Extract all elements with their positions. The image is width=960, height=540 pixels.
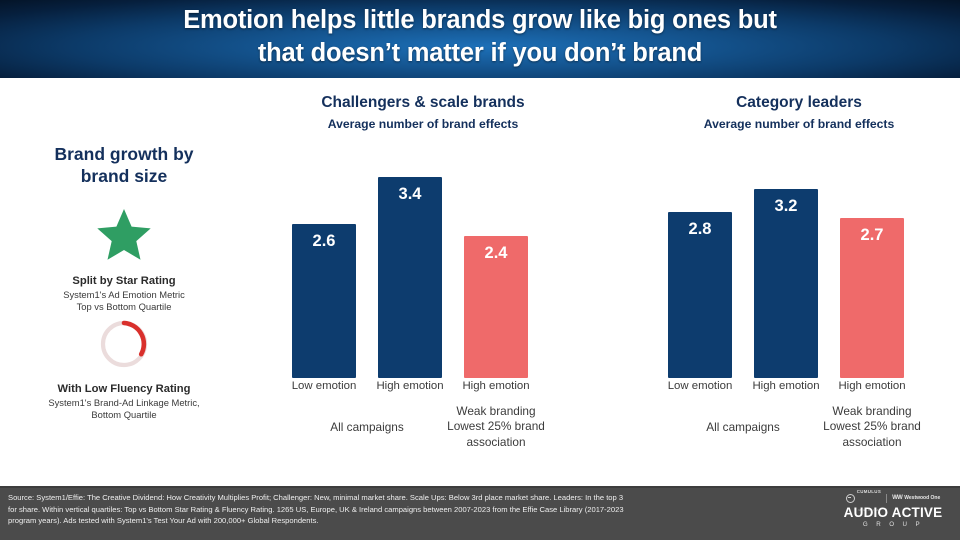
legend-panel-title-line1: Brand growth by bbox=[14, 144, 234, 166]
westwood-label: Westwood One bbox=[904, 495, 940, 501]
legend-item-fluency-sub: System1's Brand-Ad Linkage Metric, Botto… bbox=[0, 397, 248, 421]
source-note-line1: Source: System1/Effie: The Creative Divi… bbox=[8, 492, 828, 504]
x-axis-label: High emotion bbox=[449, 380, 543, 392]
slide-header: Emotion helps little brands grow like bi… bbox=[0, 0, 960, 78]
bar-value-label: 2.7 bbox=[840, 226, 904, 245]
westwood-mark-icon: WW bbox=[892, 495, 902, 501]
legend-item-fluency-heading: With Low Fluency Rating bbox=[0, 382, 248, 397]
legend-item-star: Split by Star Rating System1's Ad Emotio… bbox=[0, 274, 248, 313]
slide-root: Emotion helps little brands grow like bi… bbox=[0, 0, 960, 540]
cumulus-label: CUMULUS bbox=[857, 489, 881, 494]
bar-leaders-1: 3.2 bbox=[754, 189, 818, 378]
x-axis-label: High emotion bbox=[363, 380, 457, 392]
bar-challengers-0: 2.6 bbox=[292, 224, 356, 378]
bar-value-label: 2.6 bbox=[292, 232, 356, 251]
page-title-line2: that doesn’t matter if you don’t brand bbox=[0, 37, 960, 70]
bar-value-label: 3.4 bbox=[378, 185, 442, 204]
chart-challengers-plot: 2.6Low emotion3.4High emotion2.4High emo… bbox=[248, 86, 598, 486]
page-title-line1: Emotion helps little brands grow like bi… bbox=[0, 4, 960, 37]
legend-item-fluency-sub-line2: Bottom Quartile bbox=[0, 409, 248, 421]
bar-leaders-0: 2.8 bbox=[668, 212, 732, 378]
cumulus-circle-icon bbox=[846, 494, 855, 503]
x-axis-label: High emotion bbox=[739, 380, 833, 392]
bar-value-label: 3.2 bbox=[754, 197, 818, 216]
legend-panel-title: Brand growth by brand size bbox=[14, 144, 234, 188]
group-label-line: association bbox=[792, 435, 952, 450]
group-label-line: association bbox=[416, 435, 576, 450]
group-label-line: Weak branding bbox=[416, 404, 576, 419]
bar-value-label: 2.4 bbox=[464, 244, 528, 263]
footer-divider bbox=[0, 486, 960, 488]
legend-item-star-sub-line2: Top vs Bottom Quartile bbox=[0, 301, 248, 313]
group-label-line: Lowest 25% brand bbox=[792, 419, 952, 434]
group-label-1: Weak brandingLowest 25% brandassociation bbox=[416, 404, 576, 450]
logo-main-label: AUDIO ACTIVE bbox=[834, 506, 952, 520]
x-axis-label: Low emotion bbox=[277, 380, 371, 392]
x-axis-label: Low emotion bbox=[653, 380, 747, 392]
group-label-line: Weak branding bbox=[792, 404, 952, 419]
legend-panel: Brand growth by brand size Split by Star… bbox=[0, 86, 248, 478]
star-icon bbox=[96, 208, 152, 262]
slide-footer: Source: System1/Effie: The Creative Divi… bbox=[0, 486, 960, 540]
bar-challengers-1: 3.4 bbox=[378, 177, 442, 378]
source-note-line2: for share. Within vertical quartiles: To… bbox=[8, 504, 828, 516]
x-axis-label: High emotion bbox=[825, 380, 919, 392]
page-title: Emotion helps little brands grow like bi… bbox=[0, 4, 960, 69]
legend-item-fluency: With Low Fluency Rating System1's Brand-… bbox=[0, 382, 248, 421]
bar-challengers-2: 2.4 bbox=[464, 236, 528, 378]
star-icon-wrap bbox=[0, 208, 248, 267]
donut-gauge-icon bbox=[98, 318, 150, 370]
source-note: Source: System1/Effie: The Creative Divi… bbox=[8, 492, 828, 527]
chart-leaders-plot: 2.8Low emotion3.2High emotion2.7High emo… bbox=[624, 86, 960, 486]
group-label-1: Weak brandingLowest 25% brandassociation bbox=[792, 404, 952, 450]
audio-active-group-logo: CUMULUS M E D I A WW Westwood One AUDIO … bbox=[834, 492, 952, 534]
group-label-line: Lowest 25% brand bbox=[416, 419, 576, 434]
logo-divider bbox=[886, 494, 887, 503]
legend-item-star-sub-line1: System1's Ad Emotion Metric bbox=[0, 289, 248, 301]
legend-item-star-heading: Split by Star Rating bbox=[0, 274, 248, 289]
donut-gauge-icon-wrap bbox=[0, 318, 248, 375]
legend-panel-title-line2: brand size bbox=[14, 166, 234, 188]
legend-item-star-sub: System1's Ad Emotion Metric Top vs Botto… bbox=[0, 289, 248, 313]
chart-challengers: Challengers & scale brands Average numbe… bbox=[248, 86, 598, 486]
source-note-line3: program years). Ads tested with System1'… bbox=[8, 515, 828, 527]
westwood-one-logo: WW Westwood One bbox=[892, 495, 940, 501]
legend-item-fluency-sub-line1: System1's Brand-Ad Linkage Metric, bbox=[0, 397, 248, 409]
chart-leaders: Category leaders Average number of brand… bbox=[624, 86, 960, 486]
logo-brands-row: CUMULUS M E D I A WW Westwood One bbox=[834, 492, 952, 504]
logo-group-label: G R O U P bbox=[834, 521, 952, 528]
bar-value-label: 2.8 bbox=[668, 220, 732, 239]
bar-leaders-2: 2.7 bbox=[840, 218, 904, 378]
